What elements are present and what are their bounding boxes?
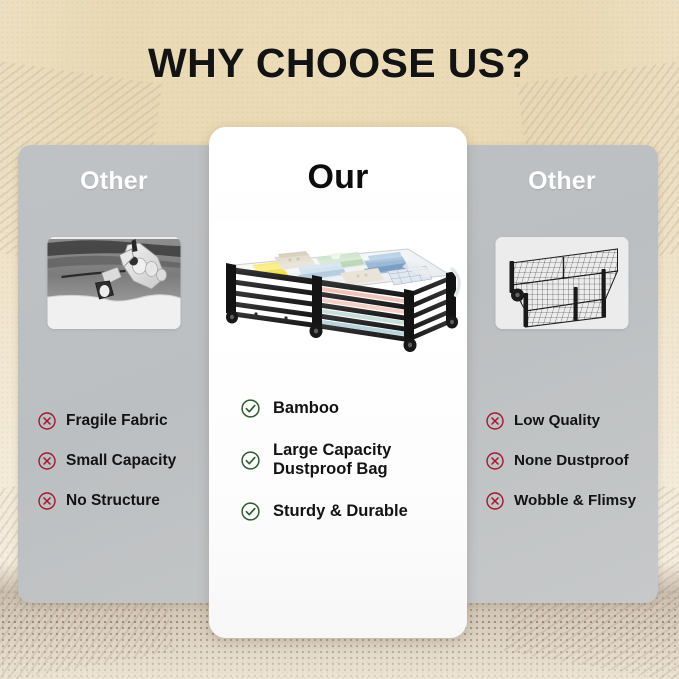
cross-circle-icon [37, 491, 57, 511]
list-item: Bamboo [240, 386, 467, 431]
infographic-stage: WHY CHOOSE US? Other [0, 0, 679, 679]
list-item-label: Bamboo [273, 399, 339, 418]
feature-list-other-left: Fragile Fabric Small Capacity No Structu… [18, 401, 210, 521]
list-item-label: Low Quality [514, 412, 600, 430]
bamboo-storage-organizer-photo [212, 221, 464, 353]
column-other-left: Other [18, 145, 210, 603]
feature-list-our: Bamboo Large Capacity Dustproof Bag Stur… [209, 386, 467, 534]
list-item-label: Sturdy & Durable [273, 502, 408, 521]
list-item: Small Capacity [37, 441, 210, 481]
page-title: WHY CHOOSE US? [0, 40, 679, 87]
list-item-label: None Dustproof [514, 452, 629, 470]
column-title-other-left: Other [18, 167, 210, 196]
list-item: Wobble & Flimsy [485, 481, 658, 521]
list-item-label: Wobble & Flimsy [514, 492, 636, 510]
list-item: None Dustproof [485, 441, 658, 481]
check-circle-icon [240, 398, 261, 419]
fabric-bag-zipper-photo [48, 237, 181, 329]
list-item-label: No Structure [66, 492, 160, 510]
column-title-our: Our [209, 158, 467, 197]
list-item-label: Large Capacity Dustproof Bag [273, 441, 391, 480]
cross-circle-icon [485, 491, 505, 511]
column-our-center: Our [209, 127, 467, 638]
list-item-label: Small Capacity [66, 452, 176, 470]
list-item: Fragile Fabric [37, 401, 210, 441]
cross-circle-icon [37, 411, 57, 431]
cross-circle-icon [37, 451, 57, 471]
list-item: Large Capacity Dustproof Bag [240, 431, 467, 489]
cross-circle-icon [485, 451, 505, 471]
list-item: No Structure [37, 481, 210, 521]
cross-circle-icon [485, 411, 505, 431]
list-item-label: Fragile Fabric [66, 412, 168, 430]
list-item: Sturdy & Durable [240, 489, 467, 534]
check-circle-icon [240, 450, 261, 471]
list-item: Low Quality [485, 401, 658, 441]
column-title-other-right: Other [466, 167, 658, 196]
check-circle-icon [240, 501, 261, 522]
column-other-right: Other [466, 145, 658, 603]
wire-mesh-basket-photo [496, 237, 629, 329]
feature-list-other-right: Low Quality None Dustproof Wobble & Flim… [466, 401, 658, 521]
